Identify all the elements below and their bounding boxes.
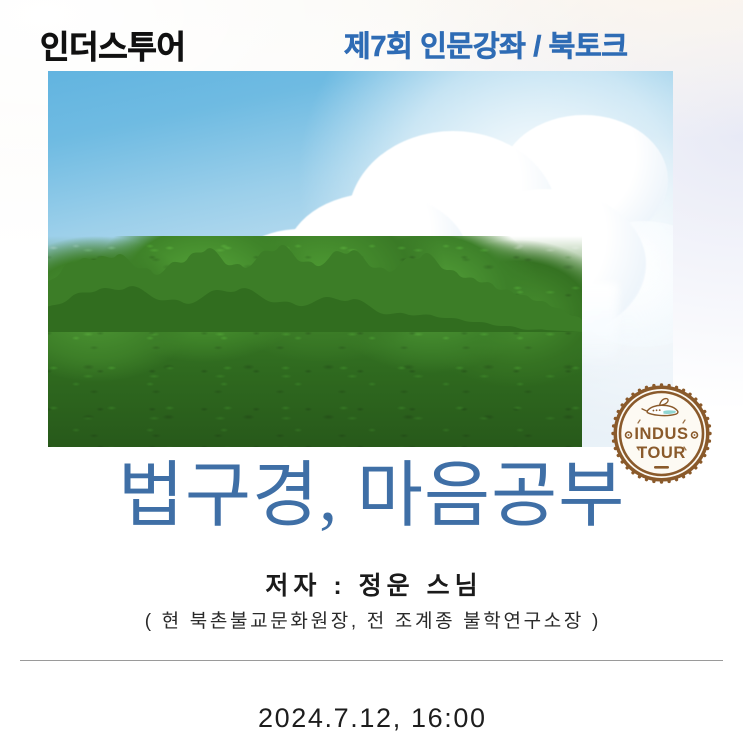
brand-logo: 인더스투어: [40, 24, 186, 70]
poster-header: 인더스투어 제7회 인문강좌 / 북토크: [0, 24, 743, 72]
author-affiliation: ( 현 북촌불교문화원장, 전 조계종 불학연구소장 ): [0, 606, 743, 633]
stamp-icon: INDUS TOUR: [611, 383, 712, 484]
hero-photo: [48, 71, 673, 447]
footer-divider: [20, 660, 723, 661]
stamp-line-1: INDUS: [634, 425, 688, 443]
event-series-tag: 제7회 인문강좌 / 북토크: [344, 24, 628, 70]
tree-canopy: [48, 236, 582, 447]
event-datetime: 2024.7.12, 16:00: [0, 703, 743, 734]
author-name: 저자 : 정운 스님: [0, 566, 743, 602]
foliage-edge-icon: [48, 236, 582, 332]
stamp-line-2: TOUR: [637, 444, 686, 462]
event-poster: 인더스투어 제7회 인문강좌 / 북토크: [0, 0, 743, 743]
indus-tour-stamp-badge: INDUS TOUR: [611, 383, 712, 484]
